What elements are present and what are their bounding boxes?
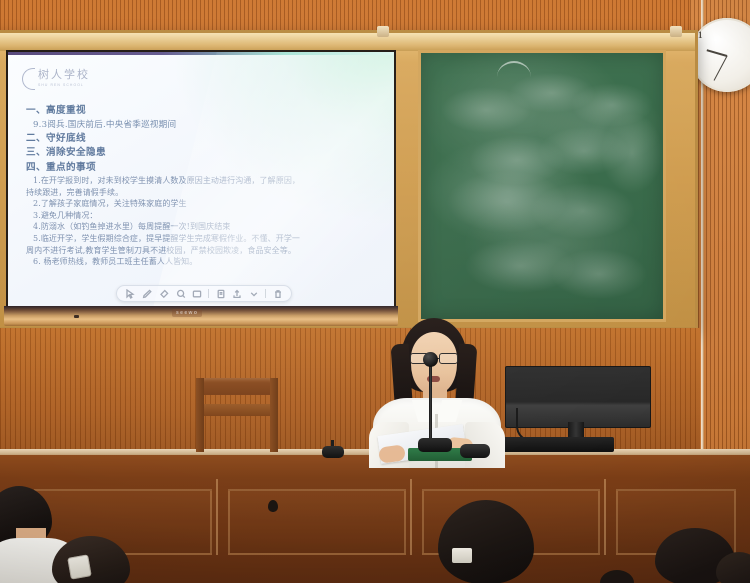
whiteboard-brand-label: seewo: [172, 309, 202, 317]
clock-minute-hand: [713, 55, 727, 80]
frame-clip-left: [377, 26, 389, 37]
toolbar-divider: [208, 289, 209, 298]
slide-body-line-7: 周内不进行考试,教育学生管制刀具不进校园，严禁校园欺凌，食品安全等。: [26, 245, 386, 257]
frame-clip-right: [670, 26, 682, 37]
page-panel-tool[interactable]: [215, 288, 226, 299]
slide-body-line-4: 3.避免几种情况：: [26, 210, 386, 222]
presentation-slide: 树人学校 SHU REN SCHOOL 一、高度重视 9.3阅兵.国庆前后.中央…: [8, 52, 394, 306]
whiteboard-toolbar[interactable]: [116, 285, 292, 302]
audience-head-3: [268, 500, 278, 512]
toolbar-divider-2: [265, 289, 266, 298]
desk-microphone-3: [460, 444, 490, 458]
glasses-lens-right: [439, 353, 458, 364]
desk-seam-3: [604, 479, 606, 555]
trash-delete-tool[interactable]: [272, 288, 283, 299]
green-chalkboard: [418, 50, 666, 322]
chevron-down-icon[interactable]: [249, 288, 260, 299]
desk-seam-1: [216, 479, 218, 555]
lasso-select-tool[interactable]: [175, 288, 186, 299]
slide-body-line-2: 持续跟进，完善请假手续。: [26, 187, 386, 199]
slide-body-line-5: 4.防溺水（如钓鱼掉进水里）每周提醒一次!到国庆结束: [26, 221, 386, 233]
wooden-chair: [196, 378, 278, 452]
chalk-smudge: [601, 113, 663, 193]
meeting-room-scene: 11 10 9 8 树人学校 SHU REN SCHOOL 一、高度重视 9.3…: [0, 0, 750, 583]
slide-text-block: 一、高度重视 9.3阅兵.国庆前后.中央省季巡视期间 二、守好底线 三、消除安全…: [26, 104, 386, 268]
logo-mark-icon: [22, 68, 35, 90]
desk-seam-2: [410, 479, 412, 555]
export-share-tool[interactable]: [232, 288, 243, 299]
audience-4-hair-clip: [452, 548, 472, 563]
chalk-arc-mark: [497, 61, 531, 77]
chair-top-rail: [198, 378, 276, 395]
chair-leg-right: [270, 378, 278, 452]
slide-body-line-3: 2.了解孩子家庭情况，关注特殊家庭的学生: [26, 198, 386, 210]
interactive-whiteboard-display[interactable]: 树人学校 SHU REN SCHOOL 一、高度重视 9.3阅兵.国庆前后.中央…: [6, 50, 396, 308]
audience-2-hair-clip: [67, 554, 92, 579]
slide-body-line-8: 6. 杨老师热线，教师员工班主任蓄人人皆知。: [26, 256, 386, 268]
whiteboard-bottom-bezel: seewo: [4, 306, 398, 326]
chair-mid-rail: [198, 404, 276, 416]
computer-keyboard: [498, 437, 614, 452]
slide-heading-2: 二、守好底线: [26, 132, 386, 147]
chalk-smudge: [551, 249, 647, 299]
slide-top-accent-bar: [8, 52, 394, 55]
slide-heading-4: 四、重点的事项: [26, 161, 386, 176]
slide-body-line-1: 1.在开学报到时，对未到校学生摸清人数及原因主动进行沟通，了解原因，: [26, 175, 386, 187]
microphone-base: [418, 438, 452, 452]
microphone-head-icon: [423, 352, 438, 367]
chair-leg-left: [196, 378, 204, 452]
gooseneck-microphone-stem: [429, 358, 432, 440]
slide-subheading: 9.3阅兵.国庆前后.中央省季巡视期间: [26, 119, 386, 132]
desk-panel-2: [228, 489, 406, 555]
frame-top-highlight: [0, 33, 695, 51]
shape-rectangle-tool[interactable]: [192, 288, 203, 299]
chalk-smudge: [531, 183, 635, 239]
slide-heading-3: 三、消除安全隐患: [26, 146, 386, 161]
desk-microphone-2-base: [322, 446, 344, 458]
slide-heading-1: 一、高度重视: [26, 104, 386, 119]
pen-tool[interactable]: [142, 288, 153, 299]
eraser-tool[interactable]: [158, 288, 169, 299]
select-cursor-tool[interactable]: [125, 288, 136, 299]
clock-hour-hand: [707, 49, 728, 57]
logo-english-name: SHU REN SCHOOL: [38, 83, 90, 87]
school-logo: 树人学校 SHU REN SCHOOL: [22, 68, 90, 90]
slide-body-line-6: 5.临近开学，学生假期综合症，提早提醒学生完成寒假作业。不懂、开学一: [26, 233, 386, 245]
bezel-sensor-icon: [74, 315, 79, 318]
logo-chinese-name: 树人学校: [38, 68, 90, 81]
